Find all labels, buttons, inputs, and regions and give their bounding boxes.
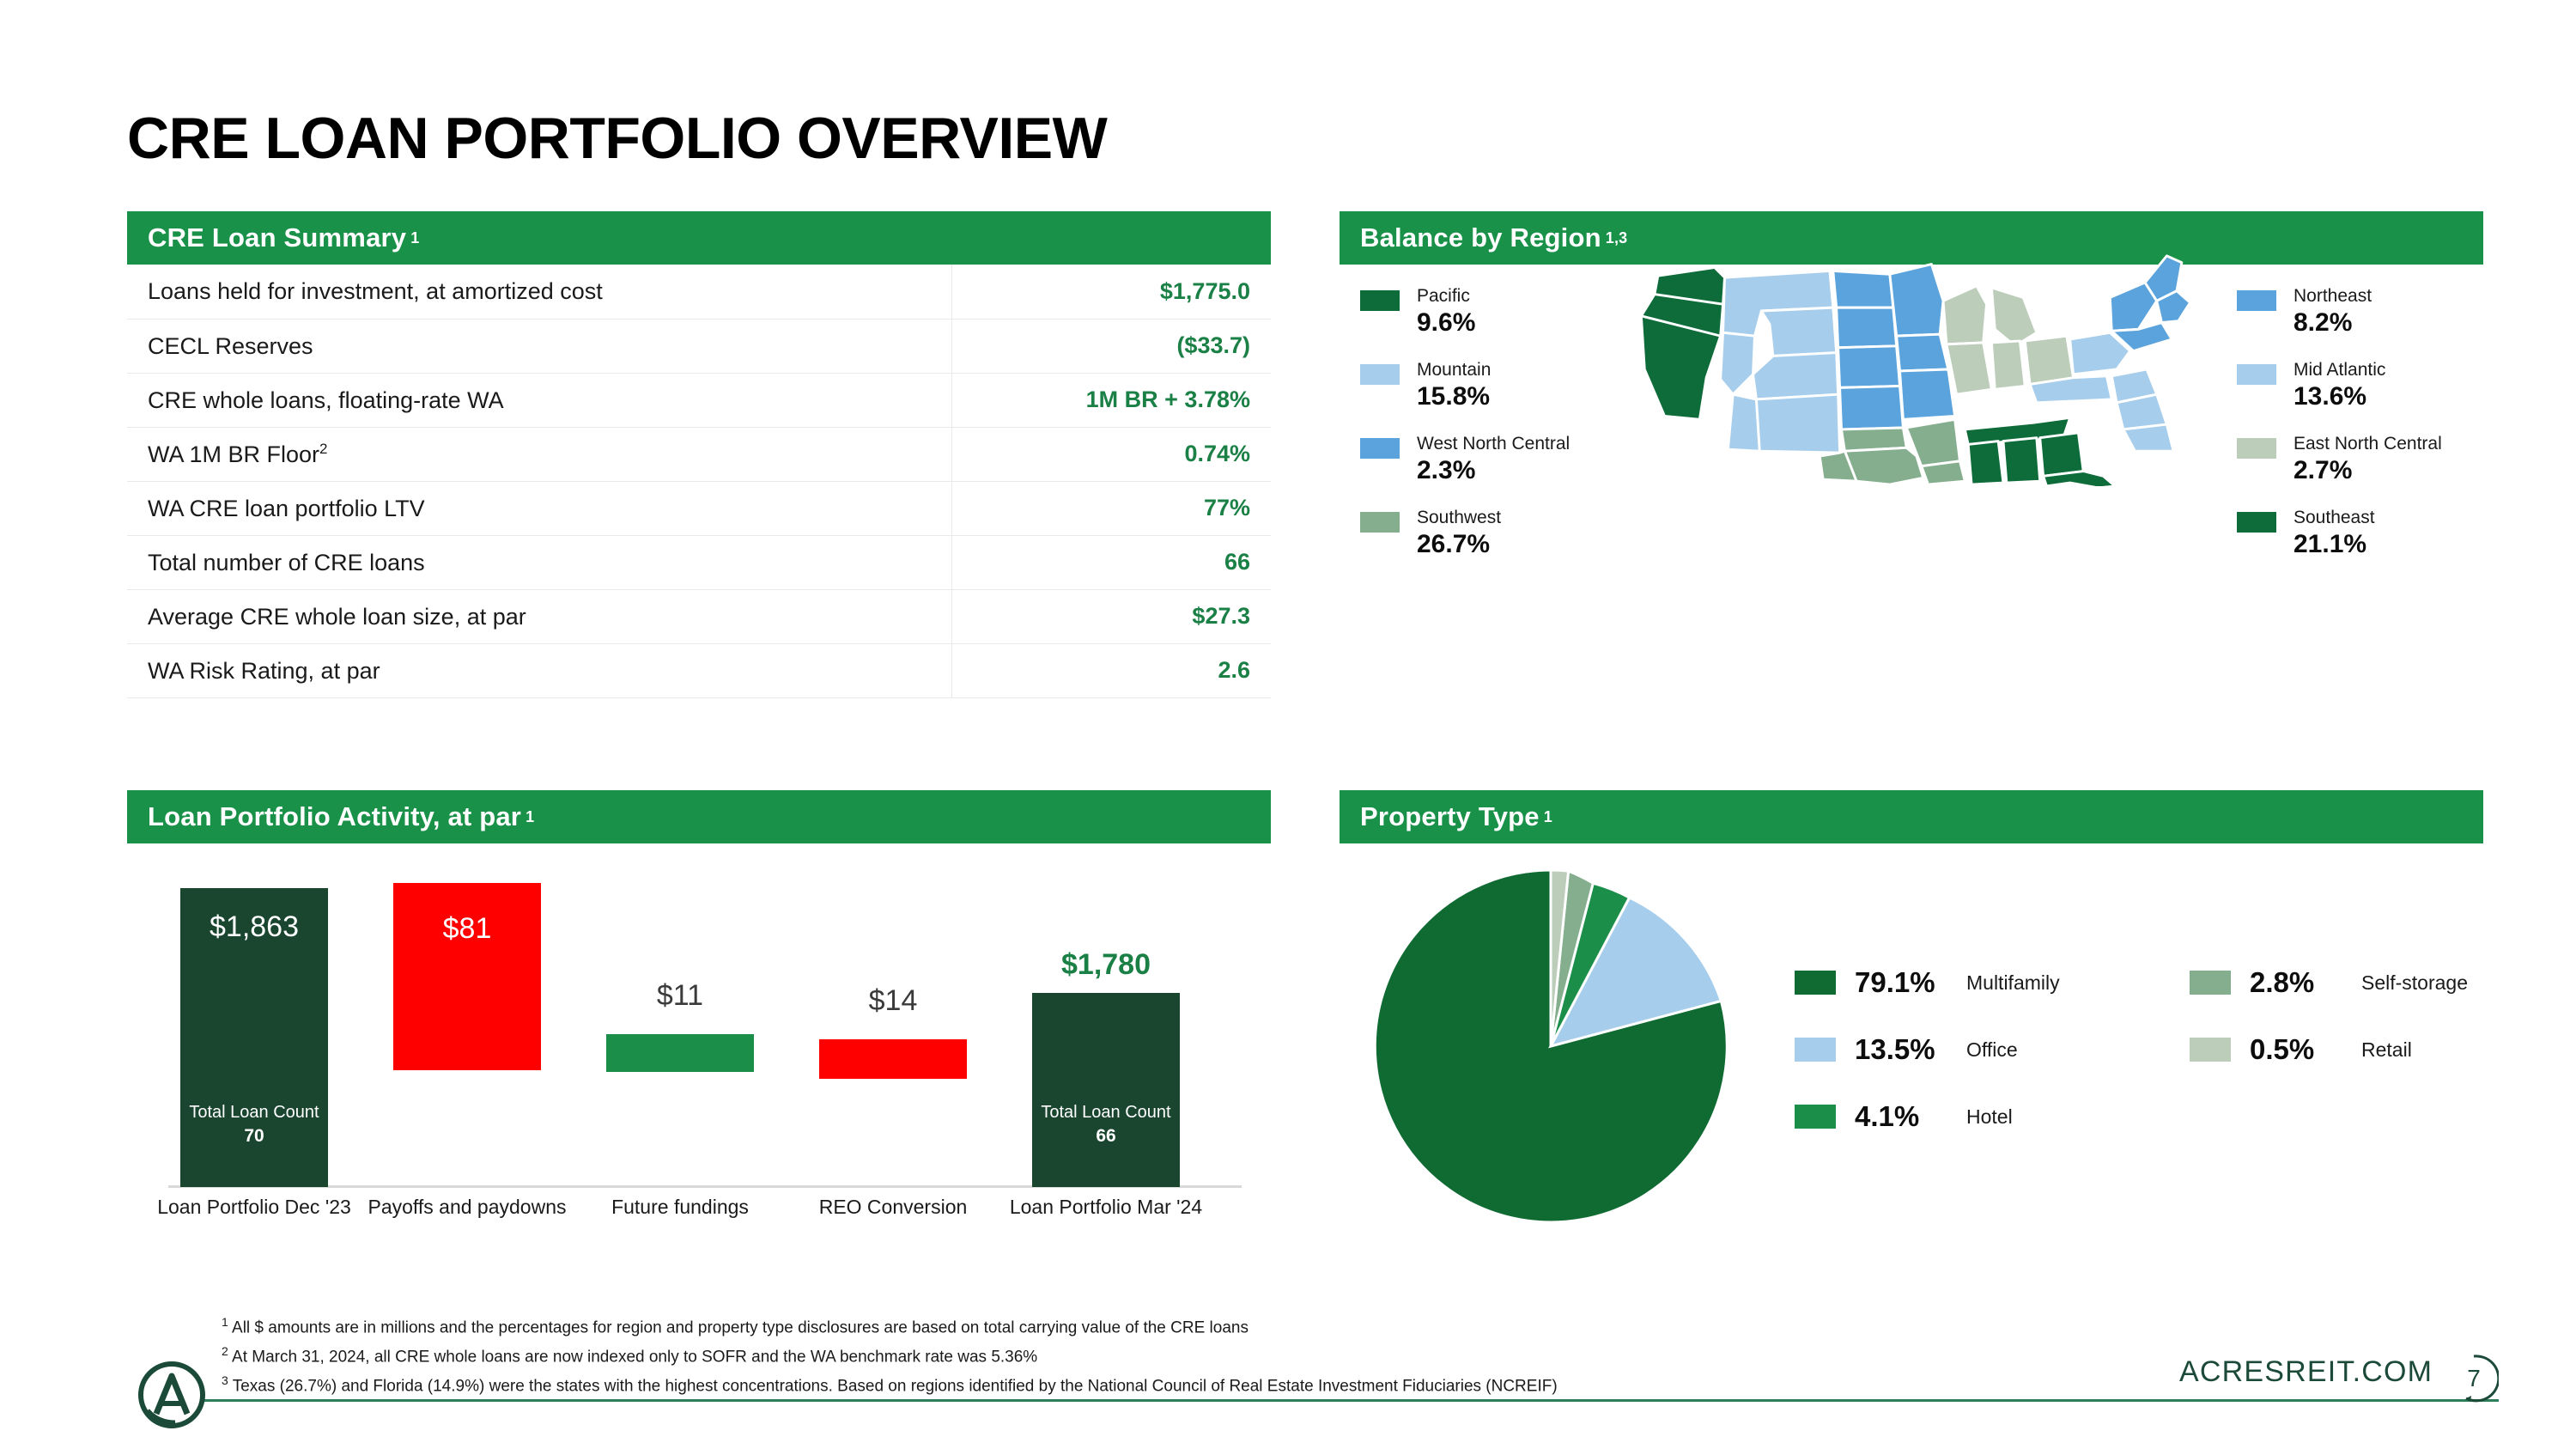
slide: CRE LOAN PORTFOLIO OVERVIEW CRE Loan Sum… [0,0,2576,1449]
row-label: Average CRE whole loan size, at par [127,589,951,643]
legend-value: 15.8% [1417,382,1592,411]
table-row: CECL Reserves ($33.7) [127,319,1271,373]
row-label: Loans held for investment, at amortized … [127,265,951,319]
legend-value: 79.1% [1855,966,1956,999]
region-legend-right: Northeast 8.2% Mid Atlantic 13.6% East N… [2237,287,2486,582]
balance-by-region-panel: Balance by Region1,3 Pacific 9.6% Mounta… [1340,211,2483,488]
map-region-mountain [1753,353,1838,399]
legend-label: Southeast [2293,508,2486,527]
legend-value: 13.5% [1855,1033,1956,1066]
row-label-text: CRE whole loans, floating-rate WA [148,387,504,413]
waterfall-value-label: $1,863 [168,910,340,944]
legend-item: West North Central 2.3% [1360,435,1592,485]
table-row: Loans held for investment, at amortized … [127,265,1271,319]
row-value: 0.74% [951,427,1271,481]
loan-portfolio-activity-header: Loan Portfolio Activity, at par1 [127,790,1271,843]
cre-loan-summary-table: Loans held for investment, at amortized … [127,265,1271,698]
footnote-marker: 1 [1544,808,1552,826]
waterfall-chart: $1,863 Total Loan Count 70 $81 $11 [127,843,1271,1230]
count-label: Total Loan Count [1041,1103,1170,1122]
row-value: ($33.7) [951,319,1271,373]
loan-portfolio-activity-title: Loan Portfolio Activity, at par [148,801,521,832]
row-value: 1M BR + 3.78% [951,373,1271,427]
footnote-1: 1 All $ amounts are in millions and the … [222,1312,1767,1342]
count-value: 66 [1020,1124,1192,1148]
legend-label: Hotel [1966,1105,2013,1129]
legend-swatch-east-north-central [2237,438,2276,459]
property-type-title: Property Type [1360,801,1540,832]
waterfall-bar-end [1032,993,1180,1187]
region-legend-left: Pacific 9.6% Mountain 15.8% West North C… [1360,287,1592,582]
legend-label: Mid Atlantic [2293,361,2486,380]
page-number: 7 [2449,1354,2499,1403]
map-region-southeast [2040,433,2084,477]
row-label: CECL Reserves [127,319,951,373]
legend-swatch-office [1795,1038,1836,1062]
legend-item: 13.5% Office [1795,1032,2060,1067]
row-value: 66 [951,535,1271,589]
legend-swatch-west-north-central [1360,438,1400,459]
legend-label: Southwest [1417,508,1592,527]
map-region-west-north-central [1840,386,1904,429]
footnote-3: 3 Texas (26.7%) and Florida (14.9%) were… [222,1371,1767,1400]
legend-swatch-southwest [1360,512,1400,533]
map-region-east-north-central [1943,286,1987,344]
row-label-text: Loans held for investment, at amortized … [148,278,603,304]
legend-label: East North Central [2293,435,2486,454]
acres-logo-icon [127,1357,216,1436]
table-row: CRE whole loans, floating-rate WA 1M BR … [127,373,1271,427]
legend-swatch-retail [2190,1038,2231,1062]
row-value: 77% [951,481,1271,535]
cre-loan-summary-title: CRE Loan Summary [148,222,406,253]
table-row: WA 1M BR Floor2 0.74% [127,427,1271,481]
row-value: $1,775.0 [951,265,1271,319]
legend-value: 0.5% [2250,1033,2351,1066]
legend-value: 8.2% [2293,308,2486,338]
footnote-number: 2 [222,1344,228,1358]
legend-label: Mountain [1417,361,1592,380]
map-region-mid-atlantic [2123,424,2173,451]
property-type-legend-column-2: 2.8% Self-storage 0.5% Retail [2190,965,2468,1099]
table-row: WA Risk Rating, at par 2.6 [127,643,1271,697]
waterfall-category-label: Future fundings [574,1196,786,1219]
table-row: WA CRE loan portfolio LTV 77% [127,481,1271,535]
row-label-text: CECL Reserves [148,333,313,359]
map-region-east-north-central [1991,341,2025,389]
waterfall-category-label: Payoffs and paydowns [361,1196,573,1219]
loan-portfolio-activity-panel: Loan Portfolio Activity, at par1 $1,863 … [127,790,1271,1306]
legend-swatch-southeast [2237,512,2276,533]
row-label-text: Average CRE whole loan size, at par [148,604,526,630]
footnote-number: 3 [222,1373,228,1387]
row-label: Total number of CRE loans [127,535,951,589]
legend-label: Multifamily [1966,971,2060,995]
footer-divider [204,1399,2499,1402]
waterfall-value-label: $14 [807,984,979,1018]
legend-item: Southeast 21.1% [2237,508,2486,559]
legend-item: Mountain 15.8% [1360,361,1592,411]
waterfall-value-label: $1,780 [1020,948,1192,982]
map-region-mountain [1728,394,1759,451]
legend-item: Northeast 8.2% [2237,287,2486,338]
footnote-text: All $ amounts are in millions and the pe… [232,1318,1249,1336]
page-title: CRE LOAN PORTFOLIO OVERVIEW [127,105,1107,172]
waterfall-bar-payoffs [393,883,541,1070]
legend-item: East North Central 2.7% [2237,435,2486,485]
map-region-mountain [1761,307,1836,356]
balance-by-region-body: Pacific 9.6% Mountain 15.8% West North C… [1340,265,2483,488]
legend-item: 2.8% Self-storage [2190,965,2468,1000]
legend-item: 4.1% Hotel [1795,1099,2060,1134]
legend-value: 2.8% [2250,966,2351,999]
waterfall-category-label: REO Conversion [787,1196,999,1219]
legend-value: 2.7% [2293,456,2486,485]
legend-value: 2.3% [1417,456,1592,485]
cre-loan-summary-body: Loans held for investment, at amortized … [127,265,1271,698]
legend-swatch-mid-atlantic [2237,364,2276,385]
map-region-mountain [1756,394,1839,453]
legend-value: 21.1% [2293,530,2486,559]
map-region-west-north-central [1897,334,1948,371]
us-region-map [1597,253,2233,486]
waterfall-column: $81 [381,843,553,1230]
waterfall-value-label: $81 [381,912,553,946]
map-region-west-north-central [1833,271,1893,307]
map-region-west-north-central [1837,307,1897,348]
waterfall-category-label: Loan Portfolio Dec '23 [149,1196,360,1219]
legend-item: Mid Atlantic 13.6% [2237,361,2486,411]
row-value: 2.6 [951,643,1271,697]
cre-loan-summary-panel: CRE Loan Summary1 Loans held for investm… [127,211,1271,698]
waterfall-bar-fundings [606,1034,754,1072]
balance-by-region-title: Balance by Region [1360,222,1601,253]
pie-slices [1375,870,1727,1222]
legend-item: 0.5% Retail [2190,1032,2468,1067]
legend-swatch-pacific [1360,290,1400,311]
legend-swatch-hotel [1795,1105,1836,1129]
footnotes: 1 All $ amounts are in millions and the … [222,1312,1767,1400]
map-region-mountain [1721,332,1755,394]
property-type-body: #pie g[data-name="pie-slices"]{transform… [1340,843,2483,1306]
count-label: Total Loan Count [189,1103,319,1122]
row-label-text: WA CRE loan portfolio LTV [148,496,425,521]
footnote-marker: 1 [410,229,419,247]
property-type-header: Property Type1 [1340,790,2483,843]
loan-portfolio-activity-body: $1,863 Total Loan Count 70 $81 $11 [127,843,1271,1306]
map-region-west-north-central [1890,265,1943,337]
legend-item: Southwest 26.7% [1360,508,1592,559]
legend-label: West North Central [1417,435,1592,454]
property-type-pie-chart: #pie g[data-name="pie-slices"]{transform… [1370,866,1731,1227]
property-type-legend-column-1: 79.1% Multifamily 13.5% Office 4.1% Hote… [1795,965,2060,1166]
legend-label: Pacific [1417,287,1592,306]
waterfall-count-annotation: Total Loan Count 66 [1020,1101,1192,1148]
property-type-panel: Property Type1 [1340,790,2483,1306]
legend-label: Retail [2361,1038,2412,1062]
footnote-marker: 1 [526,808,534,826]
footnote-2: 2 At March 31, 2024, all CRE whole loans… [222,1342,1767,1371]
row-label: WA Risk Rating, at par [127,643,951,697]
row-footnote-marker: 2 [319,441,327,457]
legend-value: 13.6% [2293,382,2486,411]
legend-label: Self-storage [2361,971,2468,995]
brand-url: ACRESREIT.COM [2179,1355,2433,1389]
row-value: $27.3 [951,589,1271,643]
map-region-southwest [1922,461,1965,484]
table-row: Average CRE whole loan size, at par $27.… [127,589,1271,643]
table-row: Total number of CRE loans 66 [127,535,1271,589]
map-region-east-north-central [1947,343,1991,394]
legend-value: 26.7% [1417,530,1592,559]
map-region-west-north-central [1900,369,1955,419]
map-region-east-north-central [2025,336,2073,384]
row-label: WA CRE loan portfolio LTV [127,481,951,535]
legend-swatch-mountain [1360,364,1400,385]
footnote-number: 1 [222,1315,228,1329]
legend-value: 4.1% [1855,1100,1956,1133]
legend-label: Office [1966,1038,2018,1062]
footnote-text: At March 31, 2024, all CRE whole loans a… [232,1348,1037,1366]
legend-value: 9.6% [1417,308,1592,338]
row-label-text: WA Risk Rating, at par [148,658,380,684]
row-label-text: Total number of CRE loans [148,550,425,575]
row-label-text: WA 1M BR Floor [148,441,319,467]
waterfall-bar-reo [819,1039,967,1079]
row-label: WA 1M BR Floor2 [127,427,951,481]
waterfall-column: $14 [807,843,979,1230]
legend-label: Northeast [2293,287,2486,306]
legend-swatch-northeast [2237,290,2276,311]
cre-loan-summary-header: CRE Loan Summary1 [127,211,1271,265]
legend-item: 79.1% Multifamily [1795,965,2060,1000]
waterfall-column: $11 [594,843,766,1230]
row-label: CRE whole loans, floating-rate WA [127,373,951,427]
waterfall-count-annotation: Total Loan Count 70 [168,1101,340,1148]
map-region-east-north-central [1991,288,2036,346]
waterfall-category-label: Loan Portfolio Mar '24 [1000,1196,1212,1219]
waterfall-column: $1,863 Total Loan Count 70 [168,843,340,1230]
map-region-southeast [2003,438,2040,483]
footnote-marker: 1,3 [1606,229,1628,247]
waterfall-value-label: $11 [594,979,766,1013]
waterfall-column: $1,780 Total Loan Count 66 [1020,843,1192,1230]
legend-item: Pacific 9.6% [1360,287,1592,338]
legend-swatch-multifamily [1795,971,1836,995]
count-value: 70 [168,1124,340,1148]
legend-swatch-self-storage [2190,971,2231,995]
map-region-southeast [1968,441,2003,485]
footnote-text: Texas (26.7%) and Florida (14.9%) were t… [233,1378,1558,1396]
map-region-west-north-central [1838,346,1900,388]
